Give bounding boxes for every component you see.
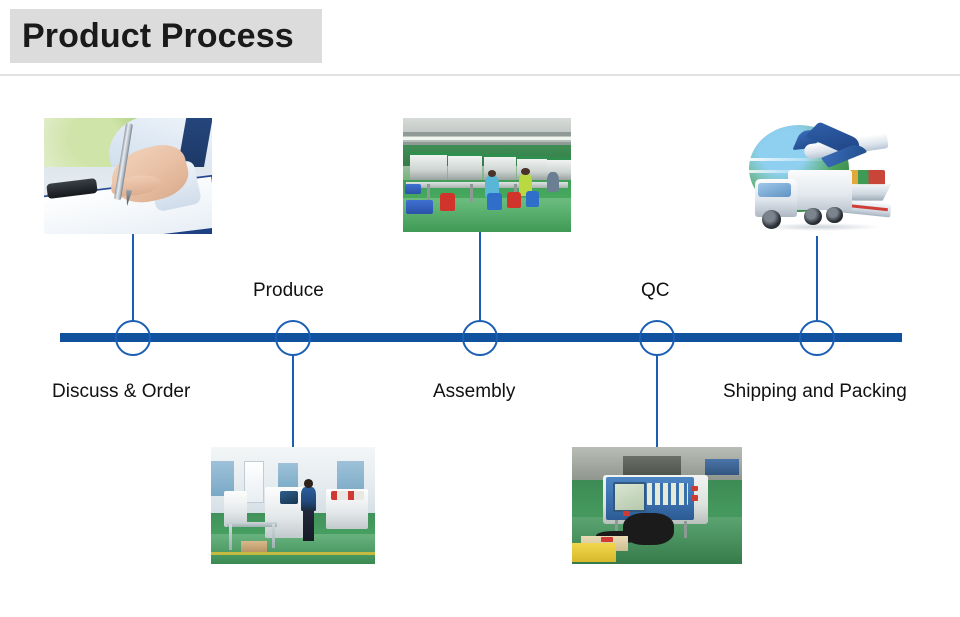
photo-stool [526,191,539,207]
photo-stool [507,192,520,208]
step-photo-discuss-order [44,118,212,234]
connector-shipping-packing [816,236,818,322]
page-title-box: Product Process [10,9,322,63]
connector-produce [292,354,294,449]
photo-machine-screen [280,491,298,504]
photo-tester-red-button [691,486,698,492]
step-photo-assembly [403,118,571,232]
photo-bench-leg [470,184,473,202]
photo-tester-leg [684,521,687,539]
photo-worker-head [521,168,529,175]
connector-assembly [479,232,481,322]
photo-machine [410,152,447,180]
step-label-shipping-packing: Shipping and Packing [723,382,907,401]
photo-ground-shadow [758,223,881,231]
photo-table-leg [272,524,275,547]
photo-table [227,522,276,527]
photo-worker-legs [303,510,314,540]
photo-crate [406,200,433,214]
timeline-node-assembly[interactable] [462,320,498,356]
step-photo-qc [572,447,742,564]
step-label-qc: QC [641,281,670,300]
photo-yellow-tray [572,543,616,562]
step-photo-produce [211,447,375,564]
photo-stool [440,193,455,211]
photo-carton [241,541,267,553]
photo-table-leg [229,524,232,550]
photo-floor-reflection [211,534,375,564]
photo-ceiling-beam [403,132,571,136]
header-divider [0,74,960,76]
connector-discuss-order [132,234,134,322]
photo-light-tube [403,137,571,140]
step-photo-shipping-packing [739,118,901,236]
photo-truck-trailer [788,170,853,210]
photo-truck-windshield [758,183,790,197]
photo-truck-wheel [826,207,842,224]
connector-qc [656,354,658,449]
slide-canvas: Product Process [0,0,960,617]
step-label-produce: Produce [253,281,324,300]
photo-worker-torso [301,487,316,512]
photo-tester-red-button [691,495,698,501]
step-label-discuss-order: Discuss & Order [52,382,190,401]
step-label-assembly: Assembly [433,382,515,401]
photo-back-bench [705,459,739,475]
timeline-node-qc[interactable] [639,320,675,356]
photo-stool [487,193,502,210]
timeline-node-produce[interactable] [275,320,311,356]
photo-connector [601,537,613,542]
photo-crate [405,184,422,194]
photo-tester-display [613,482,646,512]
photo-machine [448,153,482,180]
timeline-node-discuss-order[interactable] [115,320,151,356]
photo-floor-marking [211,552,375,555]
photo-worker [547,172,559,193]
page-title: Product Process [10,19,294,53]
photo-machine-panel [331,491,364,499]
photo-tester-red-button [623,511,630,516]
photo-tester-keypad [647,483,688,505]
timeline-node-shipping-packing[interactable] [799,320,835,356]
